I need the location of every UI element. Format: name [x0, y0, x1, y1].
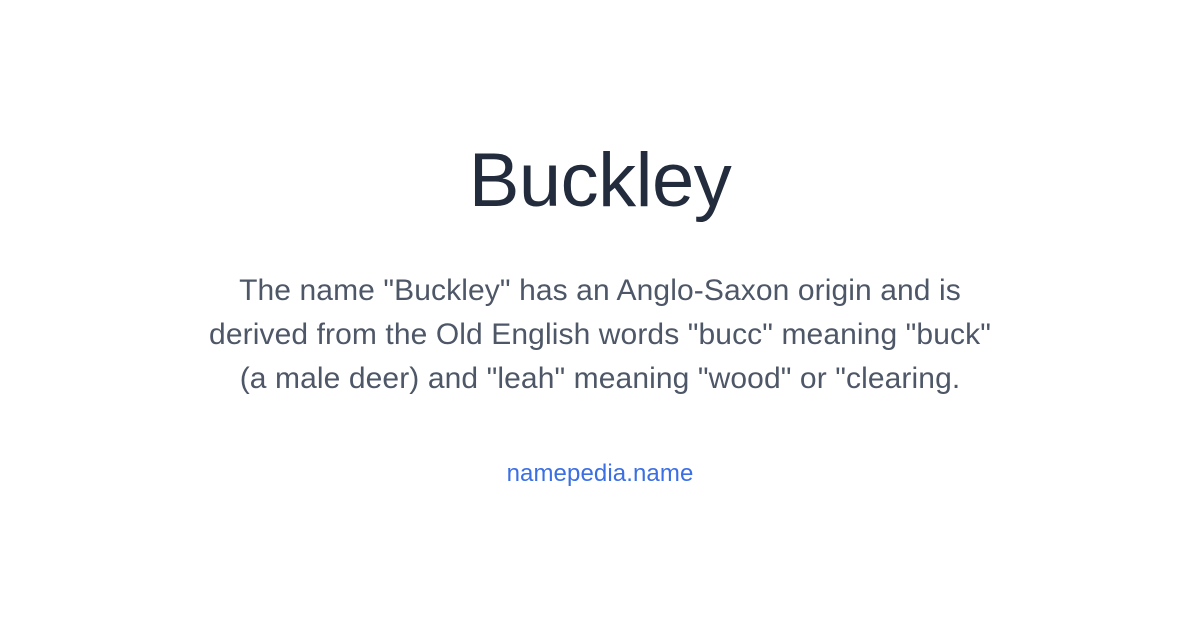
page-title: Buckley	[469, 141, 732, 221]
site-link-namepedia[interactable]: namepedia.name	[507, 459, 694, 489]
name-origin-description: The name "Buckley" has an Anglo-Saxon or…	[197, 269, 1003, 401]
name-meaning-card: Buckley The name "Buckley" has an Anglo-…	[0, 0, 1200, 630]
card-content: Buckley The name "Buckley" has an Anglo-…	[190, 141, 1010, 489]
